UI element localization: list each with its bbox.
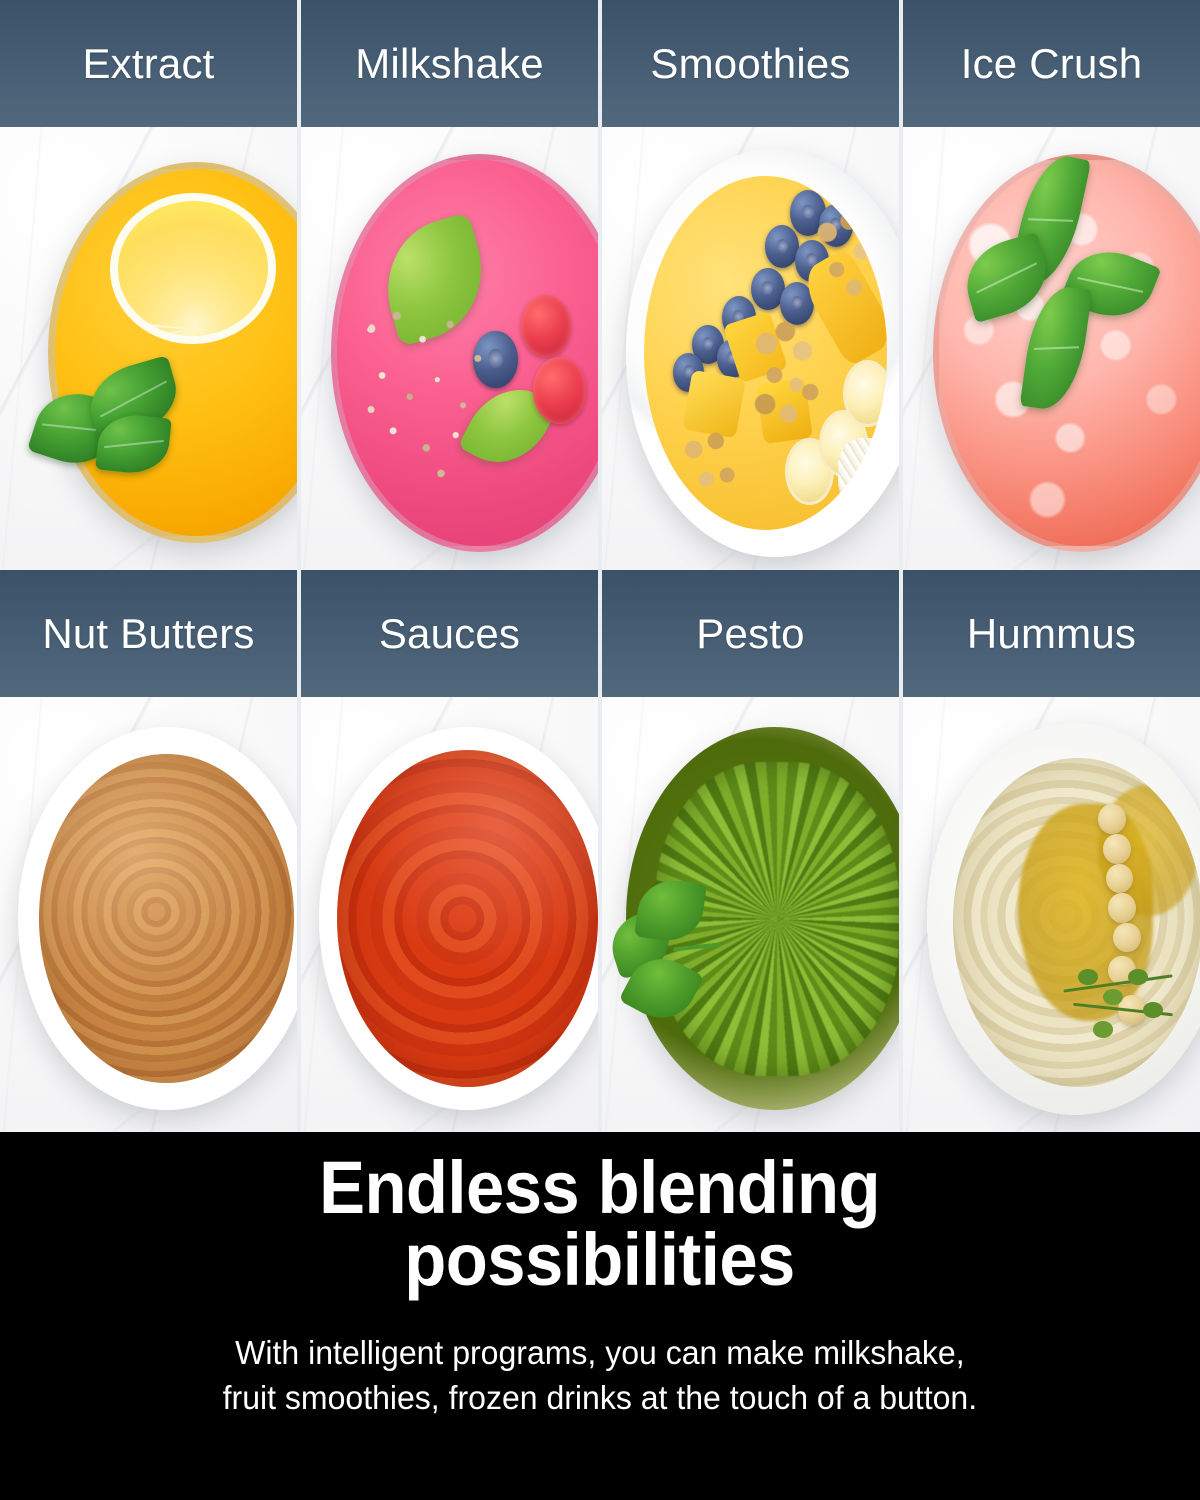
category-label: Ice Crush: [961, 40, 1143, 88]
category-label: Extract: [82, 40, 214, 88]
category-label: Smoothies: [650, 40, 850, 88]
footer-subtitle-line-2: fruit smoothies, frozen drinks at the to…: [223, 1375, 977, 1421]
category-label: Pesto: [696, 610, 804, 658]
nut-butter-bowl: [18, 727, 297, 1110]
footer-headline-line-1: Endless blending: [320, 1152, 881, 1224]
thyme-leaf: [1093, 1021, 1113, 1037]
thyme-leaf: [1143, 1002, 1163, 1018]
category-header-pesto: Pesto: [602, 570, 899, 697]
photo-extract: [0, 127, 297, 570]
hummus-spread: [953, 758, 1200, 1087]
tomato-sauce: [337, 750, 598, 1087]
category-label: Milkshake: [355, 40, 544, 88]
category-label: Sauces: [379, 610, 520, 658]
category-label: Hummus: [967, 610, 1136, 658]
hummus-bowl: [927, 723, 1200, 1115]
granola: [678, 424, 741, 509]
category-header-nut-butters: Nut Butters: [0, 570, 297, 697]
product-photo-row-2: [0, 697, 1200, 1132]
chickpea: [1106, 864, 1133, 894]
footer-subtitle: With intelligent programs, you can make …: [223, 1330, 977, 1421]
banana-slice: [843, 360, 887, 427]
photo-nut-butters: [0, 697, 297, 1132]
category-header-row-1: Extract Milkshake Smoothies Ice Crush: [0, 0, 1200, 127]
thyme-leaf: [1103, 989, 1123, 1005]
promo-graphic: Extract Milkshake Smoothies Ice Crush: [0, 0, 1200, 1500]
category-header-sauces: Sauces: [301, 570, 598, 697]
lemon-slice: [107, 191, 278, 347]
category-label: Nut Butters: [42, 610, 254, 658]
chickpea: [1113, 923, 1140, 953]
footer-banner: Endless blending possibilities With inte…: [0, 1132, 1200, 1500]
footer-subtitle-line-1: With intelligent programs, you can make …: [223, 1330, 977, 1376]
photo-pesto: [602, 697, 899, 1132]
photo-ice-crush: [903, 127, 1200, 570]
footer-headline: Endless blending possibilities: [320, 1152, 881, 1296]
thyme-leaf: [1128, 969, 1148, 985]
photo-smoothies: [602, 127, 899, 570]
sauce-bowl: [319, 727, 598, 1110]
footer-headline-line-2: possibilities: [320, 1224, 881, 1296]
mango-smoothie-base: [644, 176, 888, 530]
raspberry: [533, 357, 586, 423]
category-header-hummus: Hummus: [903, 570, 1200, 697]
chickpea: [1098, 804, 1125, 834]
chickpea: [1103, 834, 1130, 864]
photo-sauces: [301, 697, 598, 1132]
photo-milkshake: [301, 127, 598, 570]
chia-seeds: [349, 286, 533, 499]
chickpea: [1108, 893, 1135, 923]
granola: [751, 317, 829, 437]
shredded-coconut: [838, 438, 887, 509]
category-header-smoothies: Smoothies: [602, 0, 899, 127]
category-header-row-2: Nut Butters Sauces Pesto Hummus: [0, 570, 1200, 697]
peanut-butter-swirl: [39, 754, 294, 1083]
category-header-ice-crush: Ice Crush: [903, 0, 1200, 127]
category-header-extract: Extract: [0, 0, 297, 127]
product-photo-row-1: [0, 127, 1200, 570]
granola: [809, 204, 882, 317]
category-header-milkshake: Milkshake: [301, 0, 598, 127]
photo-hummus: [903, 697, 1200, 1132]
